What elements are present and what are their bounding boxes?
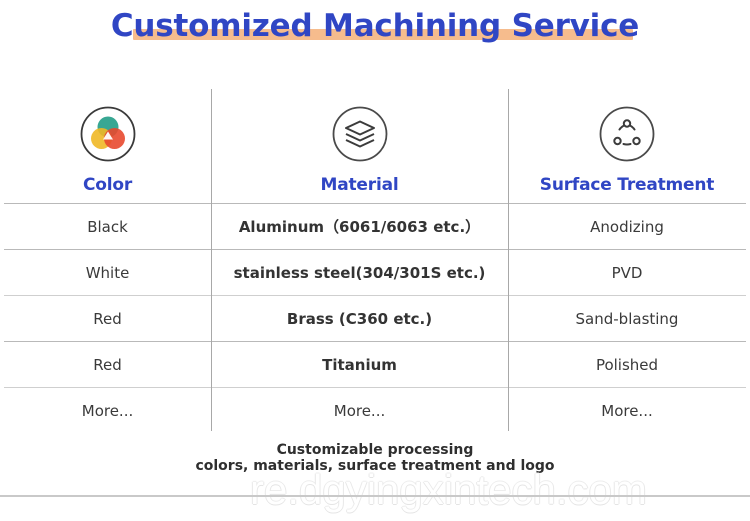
specs-table: Color Material: [4, 80, 746, 433]
table-header-color: Color: [4, 105, 211, 203]
table-row: Red Brass (C360 etc.) Sand-blasting: [4, 296, 746, 341]
cell-material-more[interactable]: More...: [211, 388, 508, 433]
surface-nodes-icon: [598, 105, 656, 163]
column-divider-2: [508, 89, 509, 431]
cell-surface-more[interactable]: More...: [508, 388, 746, 433]
cell-surface: Sand-blasting: [508, 296, 746, 341]
table-row: More... More... More...: [4, 388, 746, 433]
cell-material: stainless steel(304/301S etc.): [211, 250, 508, 295]
cell-color: Red: [4, 342, 211, 387]
cell-color: Red: [4, 296, 211, 341]
cell-surface: PVD: [508, 250, 746, 295]
page-title: Customized Machining Service: [0, 8, 750, 60]
cell-material: Aluminum（6061/6063 etc.）: [211, 204, 508, 249]
layers-stack-icon: [331, 105, 389, 163]
page-title-text: Customized Machining Service: [111, 8, 639, 44]
table-header-material: Material: [211, 105, 508, 203]
cell-color: Black: [4, 204, 211, 249]
column-label-color: Color: [83, 175, 132, 195]
bottom-rule: [0, 495, 750, 497]
table-header-row: Color Material: [4, 80, 746, 203]
infographic-page: Customized Machining Service Color: [0, 0, 750, 521]
table-header-surface: Surface Treatment: [508, 105, 746, 203]
column-label-surface: Surface Treatment: [540, 175, 714, 195]
cell-color-more[interactable]: More...: [4, 388, 211, 433]
caption-line-1: Customizable processing: [277, 442, 474, 458]
column-label-material: Material: [321, 175, 399, 195]
cell-material: Brass (C360 etc.): [211, 296, 508, 341]
column-divider-1: [211, 89, 212, 431]
cell-surface: Polished: [508, 342, 746, 387]
cell-material: Titanium: [211, 342, 508, 387]
cell-color: White: [4, 250, 211, 295]
table-row: White stainless steel(304/301S etc.) PVD: [4, 250, 746, 295]
color-wheel-icon: [79, 105, 137, 163]
watermark-text: re.dgyingxintech.com: [250, 466, 647, 514]
table-row: Black Aluminum（6061/6063 etc.） Anodizing: [4, 204, 746, 249]
cell-surface: Anodizing: [508, 204, 746, 249]
table-row: Red Titanium Polished: [4, 342, 746, 387]
